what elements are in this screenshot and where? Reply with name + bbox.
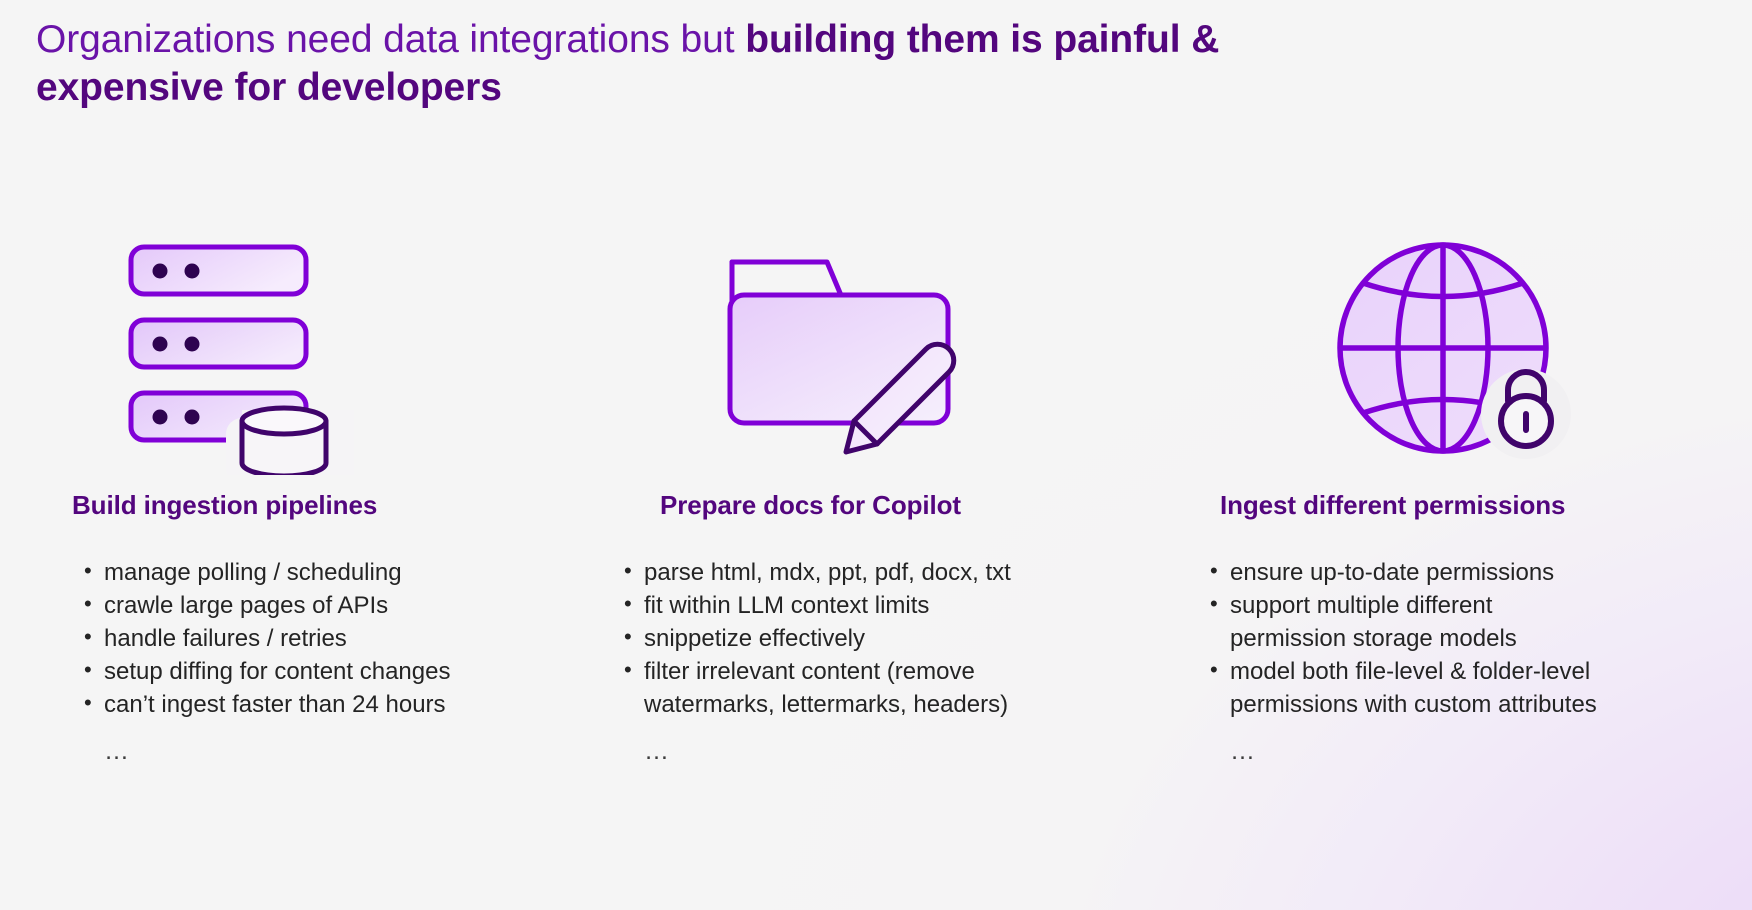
- bullet-list-2: parse html, mdx, ppt, pdf, docx, txt fit…: [622, 557, 1160, 768]
- list-item: manage polling / scheduling: [82, 557, 600, 589]
- list-item-continuation: permission storage models: [1208, 623, 1752, 655]
- column-prepare-docs-for-copilot: Prepare docs for Copilot parse html, mdx…: [600, 225, 1160, 769]
- column-ingest-different-permissions: Ingest different permissions ensure up-t…: [1160, 225, 1752, 769]
- column-heading-3: Ingest different permissions: [1208, 490, 1752, 521]
- page-title-light: Organizations need data integrations but: [36, 18, 745, 61]
- list-item: model both file-level & folder-level: [1208, 656, 1752, 688]
- globe-with-lock-icon: [1208, 225, 1752, 490]
- page-title: Organizations need data integrations but…: [36, 16, 1336, 112]
- bullet-list-1: manage polling / scheduling crawle large…: [72, 557, 600, 768]
- list-item: ensure up-to-date permissions: [1208, 557, 1752, 589]
- server-stack-database-icon: [72, 225, 600, 490]
- list-item-continuation: permissions with custom attributes: [1208, 689, 1752, 721]
- list-item-continuation: watermarks, lettermarks, headers): [622, 689, 1160, 721]
- columns-container: Build ingestion pipelines manage polling…: [0, 225, 1752, 769]
- list-item: support multiple different: [1208, 590, 1752, 622]
- list-item: snippetize effectively: [622, 623, 1160, 655]
- slide-canvas: Organizations need data integrations but…: [0, 0, 1752, 910]
- column-build-ingestion-pipelines: Build ingestion pipelines manage polling…: [0, 225, 600, 769]
- folder-with-pencil-icon: [622, 225, 1160, 490]
- list-item: filter irrelevant content (remove: [622, 656, 1160, 688]
- column-heading-1: Build ingestion pipelines: [72, 490, 600, 521]
- list-item: handle failures / retries: [82, 623, 600, 655]
- list-item-ellipsis: …: [1208, 735, 1752, 768]
- list-item: parse html, mdx, ppt, pdf, docx, txt: [622, 557, 1160, 589]
- list-item-ellipsis: …: [82, 735, 600, 768]
- column-heading-2: Prepare docs for Copilot: [622, 490, 1160, 521]
- list-item-ellipsis: …: [622, 735, 1160, 768]
- list-item: can’t ingest faster than 24 hours: [82, 689, 600, 721]
- list-item: setup diffing for content changes: [82, 656, 600, 688]
- list-item: fit within LLM context limits: [622, 590, 1160, 622]
- bullet-list-3: ensure up-to-date permissions support mu…: [1208, 557, 1752, 768]
- list-item: crawle large pages of APIs: [82, 590, 600, 622]
